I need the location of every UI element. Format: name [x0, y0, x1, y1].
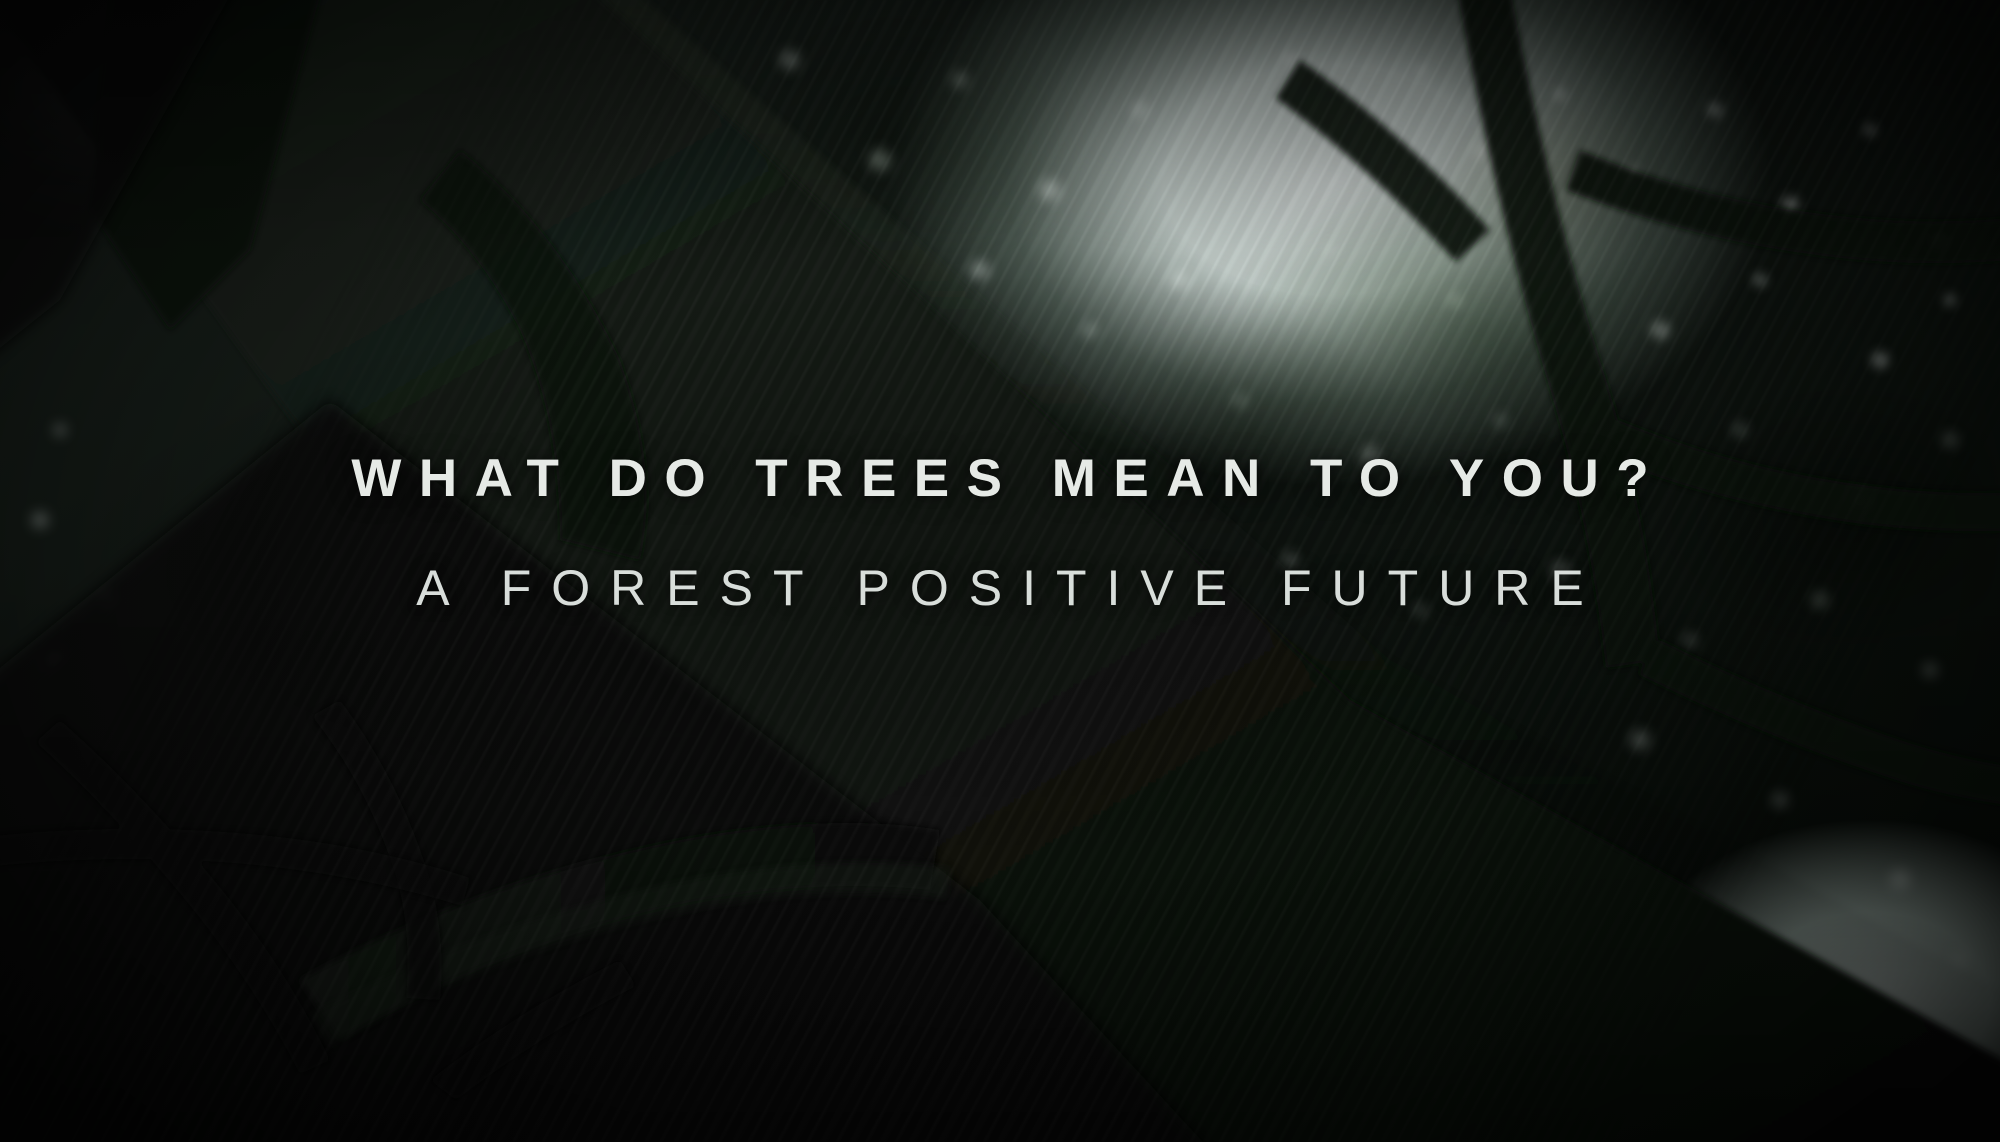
title-card-scene: WHAT DO TREES MEAN TO YOU? A FOREST POSI…	[0, 0, 2000, 1142]
subtitle-text: A FOREST POSITIVE FUTURE	[0, 563, 2000, 613]
headline-text: WHAT DO TREES MEAN TO YOU?	[0, 452, 2000, 505]
title-block: WHAT DO TREES MEAN TO YOU? A FOREST POSI…	[0, 452, 2000, 613]
